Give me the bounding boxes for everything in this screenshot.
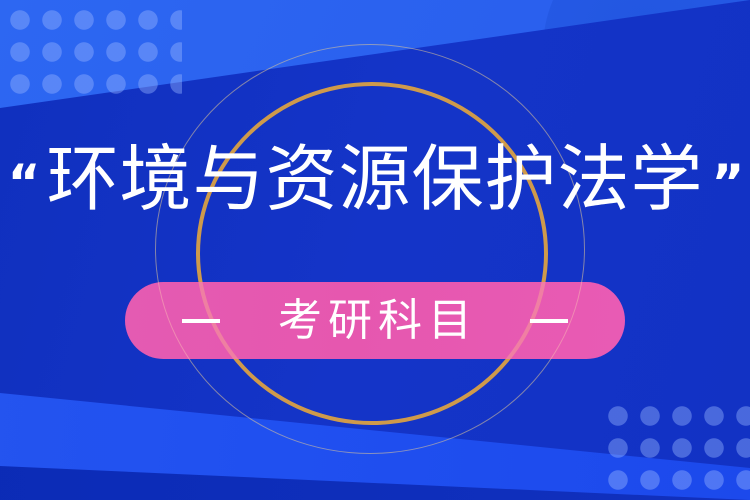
dash-right-icon (530, 319, 568, 323)
open-quote-mark: “ (8, 158, 39, 208)
dash-left-icon (182, 319, 220, 323)
pill-content: 考研科目 (182, 299, 568, 343)
decorative-ring-gold (196, 82, 548, 425)
close-quote-mark: ” (712, 158, 743, 208)
subject-pill-badge: 考研科目 (125, 282, 625, 359)
title-row: “ 环境与资源保护法学 ” (0, 144, 750, 216)
promo-banner: “ 环境与资源保护法学 ” 考研科目 (0, 0, 750, 500)
page-title: 环境与资源保护法学 (46, 144, 703, 216)
pill-label: 考研科目 (272, 299, 478, 343)
